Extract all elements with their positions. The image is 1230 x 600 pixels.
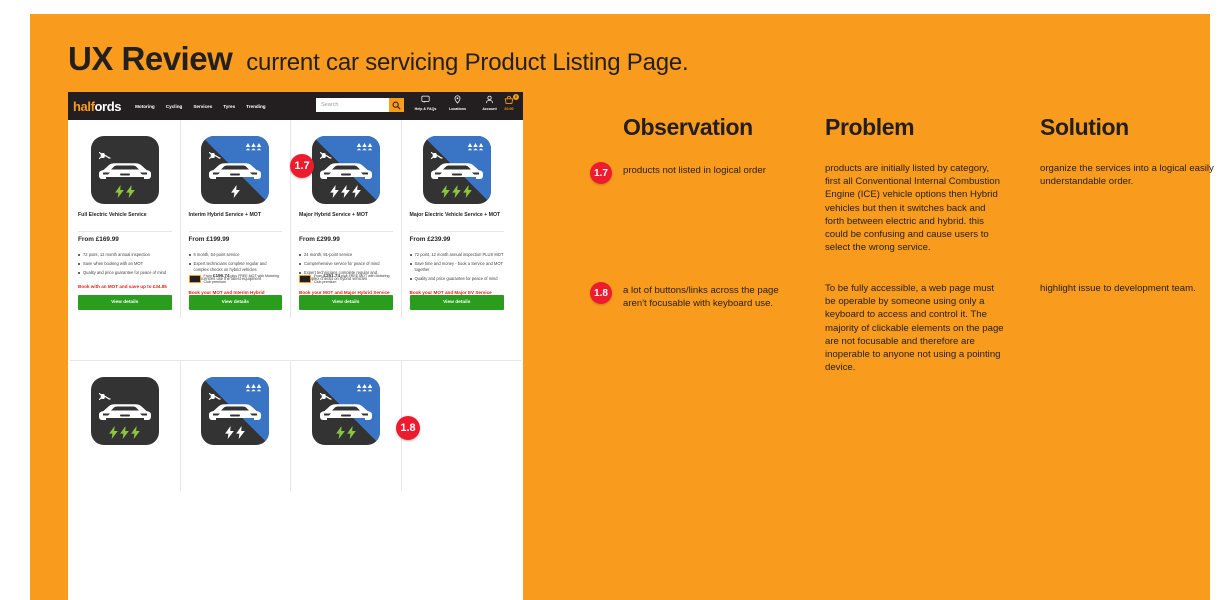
nav-item-services[interactable]: Services — [193, 104, 212, 109]
bolt-group — [312, 426, 380, 439]
product-grid-row-2 — [70, 361, 521, 491]
car-icon — [98, 403, 152, 425]
lightning-bolt-icon — [231, 185, 240, 198]
lightning-bolt-icon — [463, 185, 472, 198]
car-icon — [208, 162, 262, 184]
logo-part-1: half — [73, 99, 95, 114]
locations-button[interactable]: Locations — [445, 95, 470, 111]
product-image-hybrid-mot — [201, 136, 269, 204]
search-input[interactable]: Search — [316, 102, 389, 108]
club-price: £196.74 — [213, 273, 230, 278]
motoring-club-text: From £251.74 plus FREE MOT with Motoring… — [314, 273, 393, 284]
lightning-bolt-icon — [126, 185, 135, 198]
product-card[interactable]: Major Electric Vehicle Service + MOT Fro… — [402, 120, 513, 318]
help-faqs-label: Help & FAQs — [413, 107, 438, 111]
row-solution-text: organize the services into a logical eas… — [1040, 162, 1220, 188]
product-title[interactable]: Full Electric Vehicle Service — [78, 212, 172, 226]
lightning-bolt-icon — [115, 185, 124, 198]
lightning-bolt-icon — [347, 426, 356, 439]
lightning-bolt-icon — [341, 185, 350, 198]
page-title: UX Review current car servicing Product … — [68, 40, 689, 78]
search-icon[interactable] — [389, 98, 404, 112]
club-price: £251.74 — [323, 273, 340, 278]
motoring-club-price: From £251.74 plus FREE MOT with Motoring… — [299, 273, 393, 284]
car-icon — [430, 162, 484, 184]
bolt-group — [91, 185, 159, 198]
feature-item: Save time and money - book a Service and… — [410, 261, 505, 274]
analysis-row: 1.8 a lot of buttons/links across the pa… — [590, 282, 1230, 392]
card-footer: View details — [410, 285, 505, 310]
motoring-club-chip-icon — [299, 275, 311, 283]
feature-item: 72 point, 12 month annual inspection PLU… — [410, 252, 505, 258]
product-image-electric-mot — [312, 377, 380, 445]
basket-count-badge: 0 — [513, 94, 519, 100]
mot-triangles-icon — [245, 142, 262, 151]
row-problem-text: To be fully accessible, a web page must … — [825, 282, 1005, 375]
mot-triangles-icon — [245, 383, 262, 392]
motoring-club-text: From £196.74 plus FREE MOT with Motoring… — [204, 273, 283, 284]
view-details-button[interactable]: View details — [410, 295, 505, 310]
feature-item: Quality and price guarantee for peace of… — [78, 270, 172, 276]
product-image-major-ev-mot — [423, 136, 491, 204]
bolt-group — [423, 185, 491, 198]
slide-canvas: UX Review current car servicing Product … — [30, 14, 1210, 600]
lightning-bolt-icon — [441, 185, 450, 198]
product-features: 72 point, 12 month annual inspection Sav… — [78, 252, 172, 276]
product-title[interactable]: Interim Hybrid Service + MOT — [189, 212, 283, 226]
product-image-electric — [91, 136, 159, 204]
lightning-bolt-icon — [236, 426, 245, 439]
product-price: From £199.99 — [189, 236, 283, 243]
motoring-club-chip-icon — [189, 275, 201, 283]
location-pin-icon — [445, 95, 470, 106]
help-faqs-button[interactable]: Help & FAQs — [413, 95, 438, 111]
divider — [410, 231, 505, 232]
view-details-button[interactable]: View details — [78, 295, 172, 310]
lightning-bolt-icon — [330, 185, 339, 198]
car-icon — [208, 403, 262, 425]
divider — [299, 231, 393, 232]
analysis-row: 1.7 products not listed in logical order… — [590, 162, 1230, 272]
logo-part-2: ords — [95, 99, 122, 114]
divider — [78, 231, 172, 232]
mot-triangles-icon — [356, 142, 373, 151]
lightning-bolt-icon — [225, 426, 234, 439]
product-grid-row-1: Full Electric Vehicle Service From £169.… — [70, 120, 521, 318]
nav-item-tyres[interactable]: Tyres — [223, 104, 235, 109]
product-card[interactable] — [291, 361, 402, 491]
row-observation-text: products not listed in logical order — [623, 165, 793, 178]
lightning-bolt-icon — [452, 185, 461, 198]
title-main: UX Review — [68, 40, 232, 78]
product-title[interactable]: Major Electric Vehicle Service + MOT — [410, 212, 505, 226]
column-heading-observation: Observation — [623, 114, 753, 141]
header-utilities: Help & FAQs Locations Account — [413, 95, 502, 111]
motoring-club-price: From £196.74 plus FREE MOT with Motoring… — [189, 273, 283, 284]
lightning-bolt-icon — [120, 426, 129, 439]
product-price: From £169.99 — [78, 236, 172, 243]
locations-label: Locations — [445, 107, 470, 111]
car-icon — [319, 162, 373, 184]
product-image-hybrid-mot — [201, 377, 269, 445]
product-card[interactable] — [181, 361, 292, 491]
bolt-group — [201, 185, 269, 198]
feature-item: 72 point, 12 month annual inspection — [78, 252, 172, 258]
halfords-logo[interactable]: halfords — [73, 99, 121, 114]
product-card[interactable]: Interim Hybrid Service + MOT From £199.9… — [181, 120, 292, 318]
mot-triangles-icon — [467, 142, 484, 151]
product-title[interactable]: Major Hybrid Service + MOT — [299, 212, 393, 226]
nav-item-trending[interactable]: Trending — [246, 104, 265, 109]
bolt-group — [91, 426, 159, 439]
product-card[interactable]: Full Electric Vehicle Service From £169.… — [70, 120, 181, 318]
nav-item-motoring[interactable]: Motoring — [135, 104, 155, 109]
title-subtitle: current car servicing Product Listing Pa… — [246, 49, 688, 77]
bolt-group — [201, 426, 269, 439]
site-header: halfords Motoring Cycling Services Tyres… — [68, 92, 523, 120]
feature-item: Save when booking with an MOT — [78, 261, 172, 267]
feature-item: 6 month, 54-point service — [189, 252, 283, 258]
lightning-bolt-icon — [109, 426, 118, 439]
row-badge: 1.8 — [590, 282, 612, 304]
help-chat-icon — [413, 95, 438, 106]
row-observation-text: a lot of buttons/links across the page a… — [623, 285, 793, 311]
row-badge: 1.7 — [590, 162, 612, 184]
divider — [189, 231, 283, 232]
lightning-bolt-icon — [352, 185, 361, 198]
column-heading-problem: Problem — [825, 114, 914, 141]
mot-triangles-icon — [356, 383, 373, 392]
column-heading-solution: Solution — [1040, 114, 1129, 141]
card-footer: From £196.74 plus FREE MOT with Motoring… — [189, 263, 283, 309]
basket-button[interactable]: £0.00 0 — [498, 95, 520, 111]
bolt-group — [312, 185, 380, 198]
product-card[interactable] — [70, 361, 181, 491]
row-solution-text: highlight issue to development team. — [1040, 282, 1220, 295]
nav-item-cycling[interactable]: Cycling — [166, 104, 183, 109]
car-icon — [319, 403, 373, 425]
lightning-bolt-icon — [336, 426, 345, 439]
card-footer: From £251.74 plus FREE MOT with Motoring… — [299, 263, 393, 309]
lightning-bolt-icon — [131, 426, 140, 439]
card-footer: View details — [78, 285, 172, 310]
feature-item: Quality and price guarantee for peace of… — [410, 276, 505, 282]
car-icon — [98, 162, 152, 184]
callout-badge-1-7: 1.7 — [290, 154, 314, 178]
product-listing-screenshot: halfords Motoring Cycling Services Tyres… — [68, 92, 523, 600]
basket-total: £0.00 — [498, 107, 520, 111]
primary-nav: Motoring Cycling Services Tyres Trending — [135, 104, 265, 109]
product-card[interactable]: Major Hybrid Service + MOT From £299.99 … — [291, 120, 402, 318]
product-image-electric — [91, 377, 159, 445]
product-features: 72 point, 12 month annual inspection PLU… — [410, 252, 505, 282]
callout-badge-1-8: 1.8 — [396, 416, 420, 440]
feature-item: 24 month, 81-point service — [299, 252, 393, 258]
row-problem-text: products are initially listed by categor… — [825, 162, 1005, 255]
product-price: From £239.99 — [410, 236, 505, 243]
product-price: From £299.99 — [299, 236, 393, 243]
view-details-button[interactable]: View details — [299, 295, 393, 310]
product-image-major-hybrid-mot — [312, 136, 380, 204]
view-details-button[interactable]: View details — [189, 295, 283, 310]
search-bar[interactable]: Search — [316, 98, 404, 112]
